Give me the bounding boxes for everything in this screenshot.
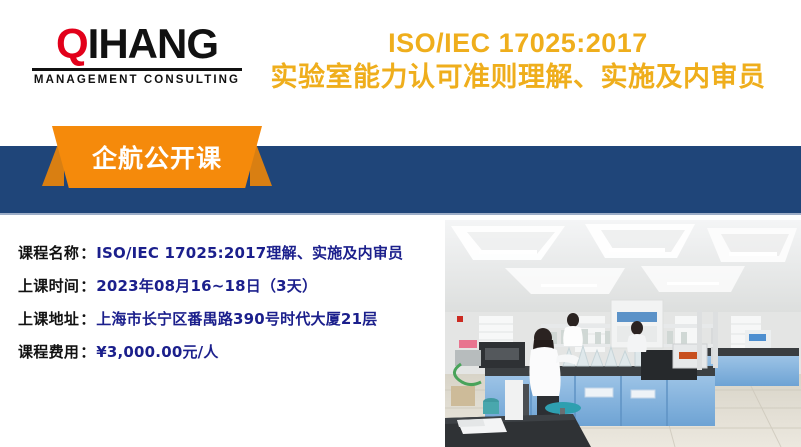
- info-value: 2023年08月16~18日（3天）: [96, 275, 317, 296]
- logo-divider: [32, 68, 242, 71]
- info-label: 课程费用: [18, 341, 79, 362]
- logo-rest: IHANG: [88, 20, 218, 67]
- ribbon-body: 企航公开课: [52, 126, 262, 188]
- info-label: 课程名称: [18, 242, 79, 263]
- logo-wordmark: QIHANG: [32, 22, 242, 66]
- info-label: 上课时间: [18, 275, 79, 296]
- info-row-course-address: 上课地址 ： 上海市长宁区番禺路390号时代大厦21层: [18, 308, 438, 341]
- poster-title: ISO/IEC 17025:2017 实验室能力认可准则理解、实施及内审员: [240, 26, 796, 96]
- company-logo: QIHANG MANAGEMENT CONSULTING: [32, 22, 242, 86]
- laboratory-photo: [445, 220, 801, 447]
- logo-initial: Q: [56, 20, 88, 67]
- info-separator: ：: [79, 275, 96, 296]
- info-separator: ：: [79, 341, 96, 362]
- blue-band-shadow: [0, 213, 801, 215]
- info-value: 上海市长宁区番禺路390号时代大厦21层: [96, 308, 377, 329]
- info-separator: ：: [79, 242, 96, 263]
- laboratory-photo-graphic: [445, 220, 801, 447]
- course-poster: QIHANG MANAGEMENT CONSULTING ISO/IEC 170…: [0, 0, 801, 447]
- course-info-list: 课程名称 ： ISO/IEC 17025:2017理解、实施及内审员 上课时间 …: [18, 242, 438, 374]
- ribbon-label: 企航公开课: [92, 139, 222, 175]
- logo-tagline: MANAGEMENT CONSULTING: [32, 74, 242, 86]
- info-value: ¥3,000.00元/人: [96, 341, 218, 362]
- info-row-course-date: 上课时间 ： 2023年08月16~18日（3天）: [18, 275, 438, 308]
- standard-title: ISO/IEC 17025:2017: [240, 26, 796, 60]
- info-separator: ：: [79, 308, 96, 329]
- info-label: 上课地址: [18, 308, 79, 329]
- info-row-course-name: 课程名称 ： ISO/IEC 17025:2017理解、实施及内审员: [18, 242, 438, 275]
- info-value: ISO/IEC 17025:2017理解、实施及内审员: [96, 242, 403, 263]
- ribbon-banner: 企航公开课: [42, 126, 272, 188]
- course-subtitle: 实验室能力认可准则理解、实施及内审员: [240, 60, 796, 96]
- info-row-course-fee: 课程费用 ： ¥3,000.00元/人: [18, 341, 438, 374]
